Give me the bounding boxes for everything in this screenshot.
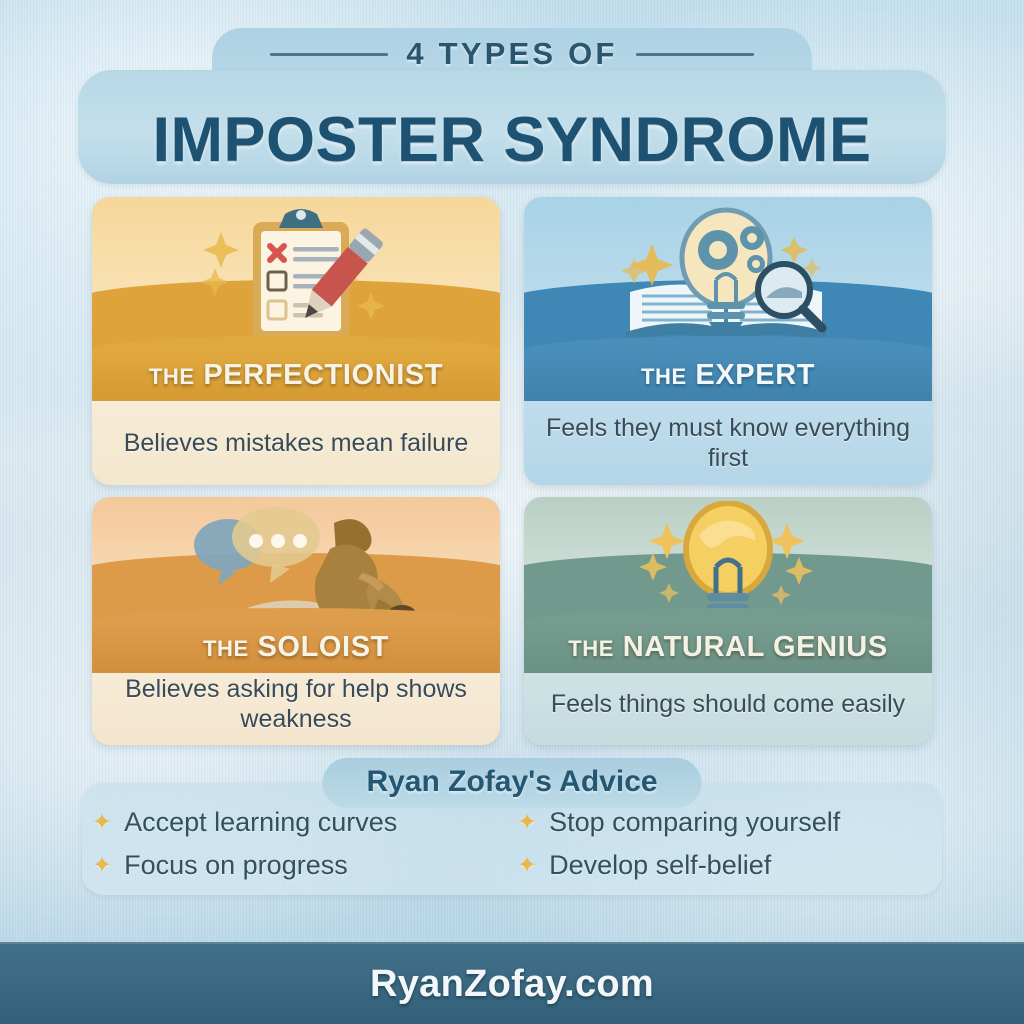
page-title: IMPOSTER SYNDROME xyxy=(0,104,1024,176)
sparkle-icon: ✦ xyxy=(92,854,112,878)
card-natural-genius-description: Feels things should come easily xyxy=(524,663,932,745)
header-eyebrow: 4 TYPES OF xyxy=(0,34,1024,74)
card-expert-description: Feels they must know everything first xyxy=(524,401,932,485)
advice-item: ✦ Focus on progress xyxy=(92,846,517,885)
advice-list: ✦ Accept learning curves ✦ Stop comparin… xyxy=(92,790,942,898)
card-natural-genius-art: THE NATURAL GENIUS Feels things should c… xyxy=(524,497,932,745)
card-soloist-art: THE SOLOIST Believes asking for help sho… xyxy=(92,497,500,745)
card-soloist-label: THE SOLOIST xyxy=(203,631,389,664)
advice-item: ✦ Develop self-belief xyxy=(517,846,942,885)
types-grid: THE PERFECTIONIST Believes mistakes mean… xyxy=(92,197,932,745)
card-expert[interactable]: THE EXPERT Feels they must know everythi… xyxy=(524,197,932,485)
eyebrow-rule-right xyxy=(636,53,754,56)
card-soloist-band: THE SOLOIST xyxy=(92,621,500,673)
advice-item-text: Focus on progress xyxy=(124,850,348,881)
card-perfectionist-label: THE PERFECTIONIST xyxy=(149,359,443,392)
sparkle-icon: ✦ xyxy=(517,854,537,878)
card-perfectionist-description: Believes mistakes mean failure xyxy=(92,401,500,485)
card-expert-art: THE EXPERT Feels they must know everythi… xyxy=(524,197,932,485)
card-natural-genius[interactable]: THE NATURAL GENIUS Feels things should c… xyxy=(524,497,932,745)
card-soloist-description: Believes asking for help shows weakness xyxy=(92,663,500,745)
card-perfectionist-art: THE PERFECTIONIST Believes mistakes mean… xyxy=(92,197,500,485)
eyebrow-rule-left xyxy=(270,53,388,56)
advice-item-text: Stop comparing yourself xyxy=(549,807,840,838)
card-expert-label: THE EXPERT xyxy=(641,359,815,392)
sparkle-icon: ✦ xyxy=(517,811,537,835)
advice-item: ✦ Accept learning curves xyxy=(92,803,517,842)
card-expert-band: THE EXPERT xyxy=(524,349,932,401)
sparkle-icon: ✦ xyxy=(92,811,112,835)
card-perfectionist-band: THE PERFECTIONIST xyxy=(92,349,500,401)
footer: RyanZofay.com xyxy=(0,942,1024,1024)
card-natural-genius-band: THE NATURAL GENIUS xyxy=(524,621,932,673)
website-url[interactable]: RyanZofay.com xyxy=(370,963,654,1006)
clipboard-checklist-pencil-icon xyxy=(92,201,500,351)
glowing-lightbulb-sparkles-icon xyxy=(524,501,932,625)
book-lightbulb-gears-magnifier-icon xyxy=(524,201,932,351)
card-natural-genius-label: THE NATURAL GENIUS xyxy=(568,631,888,664)
advice-item-text: Accept learning curves xyxy=(124,807,397,838)
eyebrow-text: 4 TYPES OF xyxy=(406,36,617,72)
advice-item: ✦ Stop comparing yourself xyxy=(517,803,942,842)
person-sitting-speech-bubble-icon xyxy=(92,501,500,625)
advice-item-text: Develop self-belief xyxy=(549,850,771,881)
card-perfectionist[interactable]: THE PERFECTIONIST Believes mistakes mean… xyxy=(92,197,500,485)
card-soloist[interactable]: THE SOLOIST Believes asking for help sho… xyxy=(92,497,500,745)
